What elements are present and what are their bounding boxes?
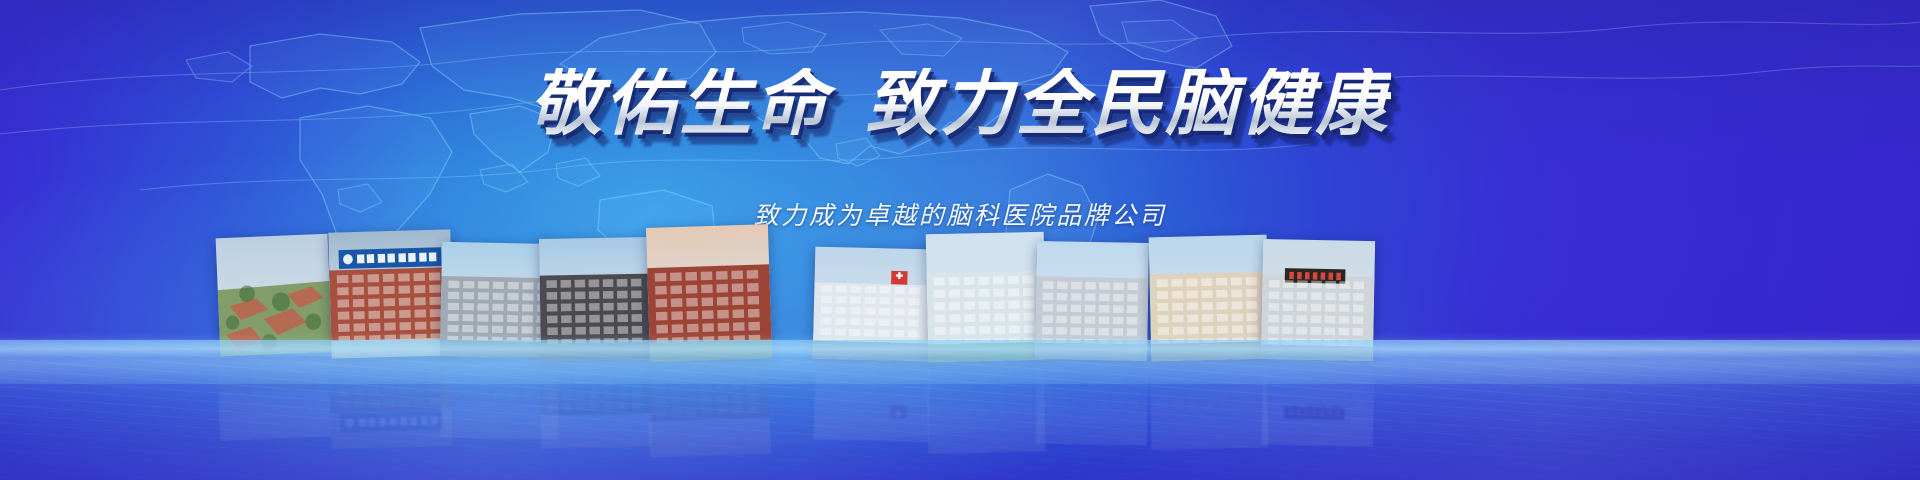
hero-banner: 敬佑生命致力全民脑健康 致力成为卓越的脑科医院品牌公司: [0, 0, 1920, 480]
water-light-sweep: [0, 340, 1920, 480]
